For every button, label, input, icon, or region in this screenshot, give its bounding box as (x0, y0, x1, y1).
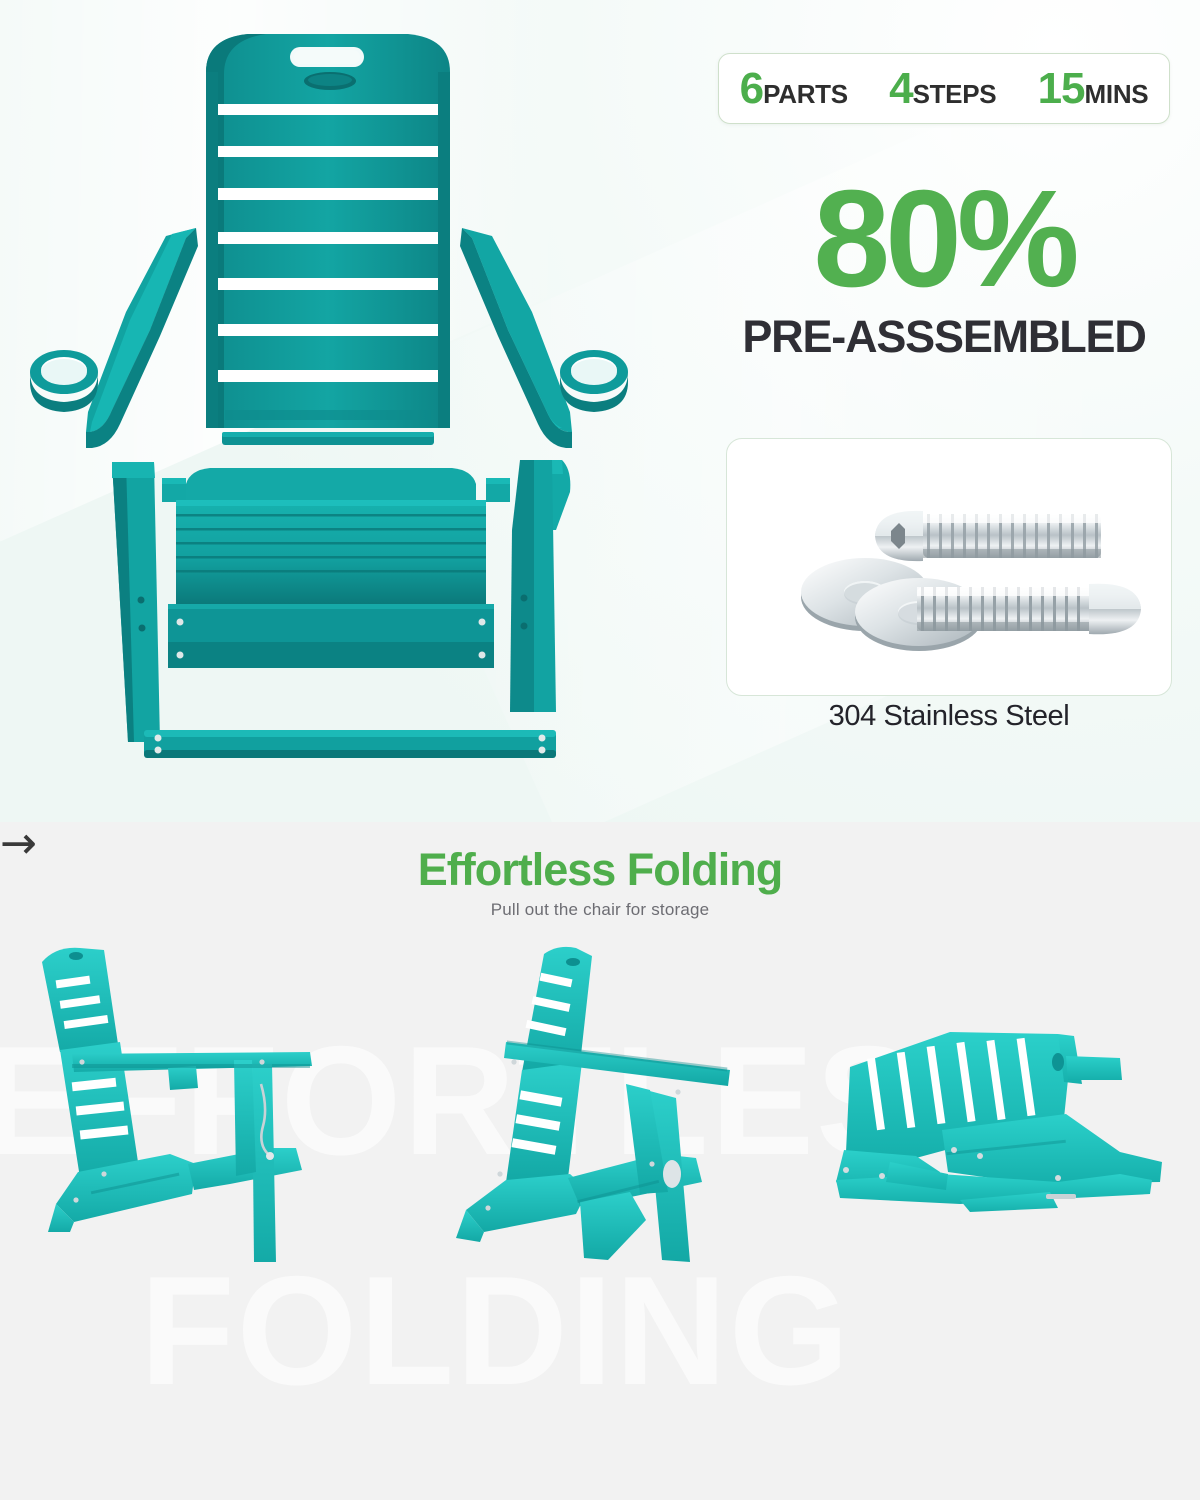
chair-leg-right-part (510, 460, 570, 712)
spec-badge-mins: 15 MINS (1038, 67, 1149, 111)
folding-step-chair-folded (820, 1022, 1180, 1257)
hardware-card (726, 438, 1172, 696)
spec-badge-steps-unit: STEPS (913, 81, 997, 107)
folding-title: Effortless Folding (0, 844, 1200, 896)
hardware-caption: 304 Stainless Steel (726, 700, 1172, 733)
folding-step-chair-folding (440, 942, 770, 1262)
spec-badge-steps-number: 4 (889, 67, 912, 111)
spec-badge-bar: 6 PARTS 4 STEPS 15 MINS (718, 53, 1170, 124)
step-arrow-2: → (0, 822, 37, 866)
spec-badge-mins-unit: MINS (1085, 81, 1149, 107)
pre-assembled-percent: 80% (718, 176, 1170, 303)
chair-support-bar-part (222, 432, 434, 445)
folding-subtitle: Pull out the chair for storage (0, 900, 1200, 920)
chair-armrest-left-part (30, 228, 198, 448)
chair-stretcher-bar-part (144, 730, 556, 758)
spec-badge-parts-unit: PARTS (763, 81, 848, 107)
pre-assembled-block: 80% PRE-ASSSEMBLED (718, 176, 1170, 363)
watermark-folding: FOLDING (140, 1242, 851, 1420)
folding-step-chair-upright (20, 932, 350, 1262)
spec-badge-steps: 4 STEPS (889, 67, 996, 111)
chair-bracket-left-part (162, 478, 186, 502)
spec-badge-parts-number: 6 (740, 67, 763, 111)
chair-armrest-right-part (460, 228, 628, 448)
bolt-part (875, 511, 1101, 561)
bolt-part (917, 584, 1141, 635)
chair-backrest-part (206, 34, 450, 428)
chair-bracket-right-part (486, 478, 510, 502)
chair-leg-left-part (112, 462, 160, 742)
chair-seat-part (168, 468, 494, 668)
pre-assembled-label: PRE-ASSSEMBLED (718, 311, 1170, 363)
stainless-hardware-illustration (727, 439, 1172, 696)
folding-demo-section: Effortless Folding Pull out the chair fo… (0, 822, 1200, 1500)
spec-badge-parts: 6 PARTS (740, 67, 848, 111)
product-hero-section: 6 PARTS 4 STEPS 15 MINS 80% PRE-ASSSEMBL… (0, 0, 1200, 822)
spec-badge-mins-number: 15 (1038, 67, 1085, 111)
exploded-chair-illustration (0, 0, 700, 822)
